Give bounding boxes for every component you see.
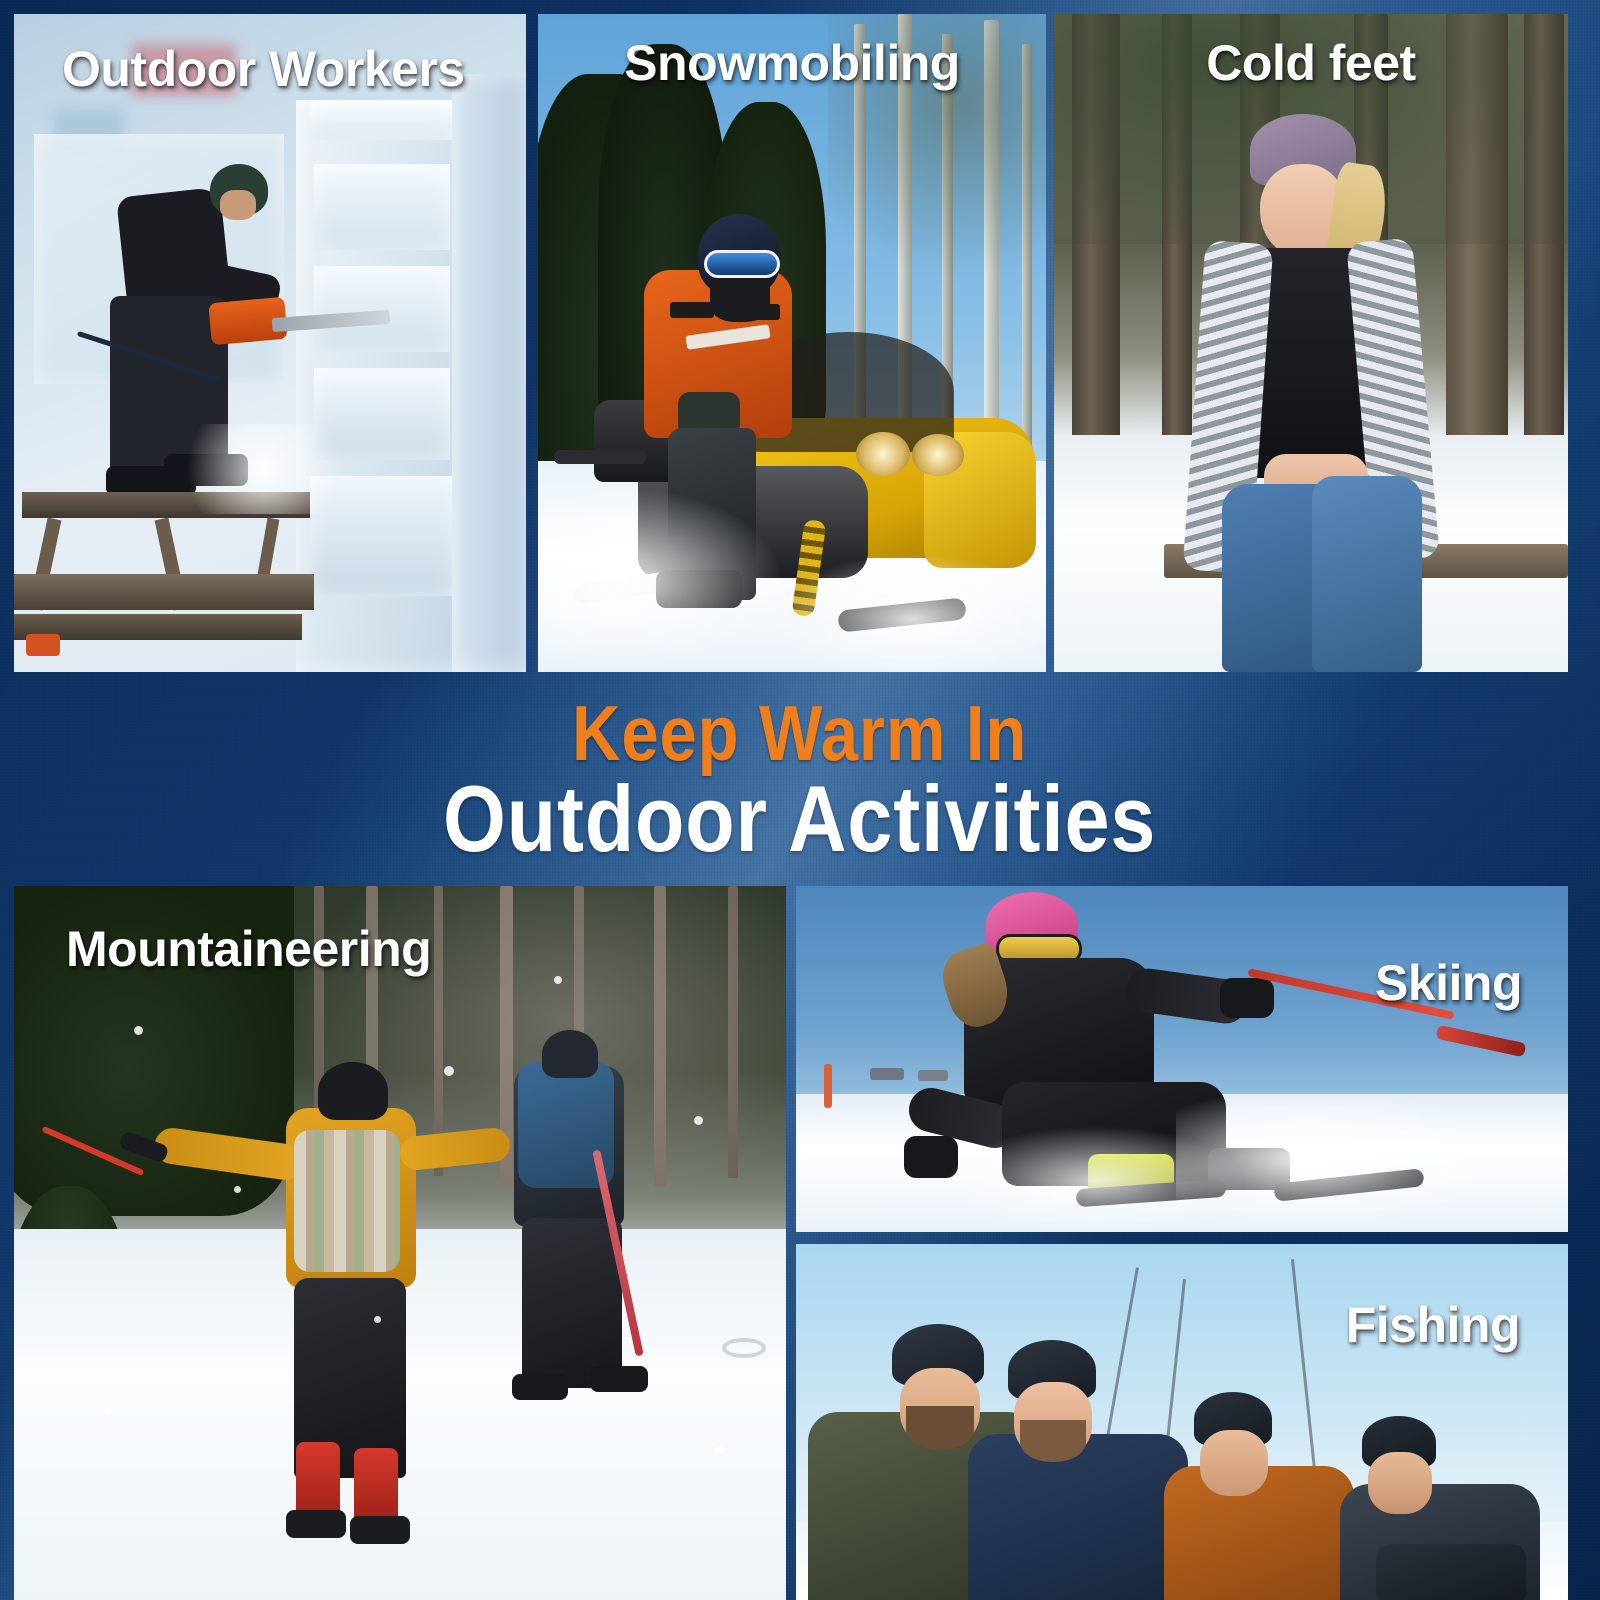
fisher-face <box>1368 1452 1432 1514</box>
chairlift-pylon <box>918 1070 948 1081</box>
panel-caption-mountaineering: Mountaineering <box>66 920 431 978</box>
snow-flake <box>714 1446 723 1455</box>
snow-spray <box>538 484 788 672</box>
snow-flake <box>104 1406 112 1414</box>
fisher-beard <box>906 1406 974 1450</box>
hiker-backpack <box>294 1130 400 1272</box>
fisher-face <box>1200 1430 1268 1496</box>
headlight <box>856 432 910 476</box>
skier-glove <box>1220 978 1274 1018</box>
panel-caption-outdoor-workers: Outdoor Workers <box>62 40 465 98</box>
snow-flake <box>444 1066 454 1076</box>
headline-band: Keep Warm In Outdoor Activities <box>0 676 1600 886</box>
snow-flake <box>134 1026 143 1035</box>
hiker-boot <box>286 1510 346 1538</box>
snow-flake <box>374 1316 381 1323</box>
hiker2-boot <box>512 1374 568 1400</box>
pole-basket <box>722 1338 766 1358</box>
rear-rack <box>554 450 646 464</box>
rider-goggles <box>704 250 780 278</box>
headline-line-1: Keep Warm In <box>572 696 1027 771</box>
panel-snowmobiling[interactable]: Snowmobiling <box>538 14 1046 672</box>
slope-marker <box>824 1064 832 1108</box>
fisher-body <box>968 1434 1188 1600</box>
snow-spray <box>768 554 1046 672</box>
panel-fishing[interactable]: Fishing <box>796 1244 1568 1600</box>
hiker-gaiter <box>296 1442 340 1520</box>
woman-jeans <box>1312 476 1422 672</box>
hiker-gaiter <box>354 1448 398 1524</box>
ice-block <box>452 74 526 672</box>
snow-spray <box>946 1126 1246 1232</box>
ice-block <box>310 100 456 140</box>
infographic-root: Outdoor Workers <box>0 0 1600 1600</box>
snow-dust <box>164 424 364 514</box>
hiker2-boot <box>590 1366 648 1392</box>
headlight <box>912 434 964 476</box>
headline-line-2: Outdoor Activities <box>443 772 1156 866</box>
rider-balaclava <box>710 278 770 322</box>
panel-outdoor-workers[interactable]: Outdoor Workers <box>14 14 526 672</box>
panel-caption-snowmobiling: Snowmobiling <box>538 34 1046 92</box>
hiker2-hat <box>542 1030 598 1078</box>
snow-flake <box>234 1186 241 1193</box>
fisher-beard <box>1020 1420 1086 1462</box>
panel-caption-fishing: Fishing <box>1346 1296 1520 1354</box>
hiker2-legs <box>522 1218 622 1388</box>
hiker-hat <box>318 1062 388 1120</box>
worker-face <box>220 190 256 220</box>
rider-pocket <box>670 302 714 318</box>
snow-flake <box>694 1116 703 1125</box>
ice-block <box>314 164 450 250</box>
panel-mountaineering[interactable]: Mountaineering <box>14 886 786 1600</box>
panel-caption-skiing: Skiing <box>1375 954 1522 1012</box>
chairlift-pylon <box>870 1068 904 1080</box>
trailer-deck <box>14 574 314 610</box>
gear-bag <box>1376 1544 1526 1600</box>
panel-caption-cold-feet: Cold feet <box>1054 34 1568 92</box>
panel-cold-feet[interactable]: Cold feet <box>1054 14 1568 672</box>
panel-skiing[interactable]: Skiing <box>796 886 1568 1232</box>
trailer-marker <box>26 634 60 656</box>
hiker-boot <box>350 1516 410 1544</box>
ice-block <box>314 266 450 352</box>
snow-flake <box>554 976 562 984</box>
